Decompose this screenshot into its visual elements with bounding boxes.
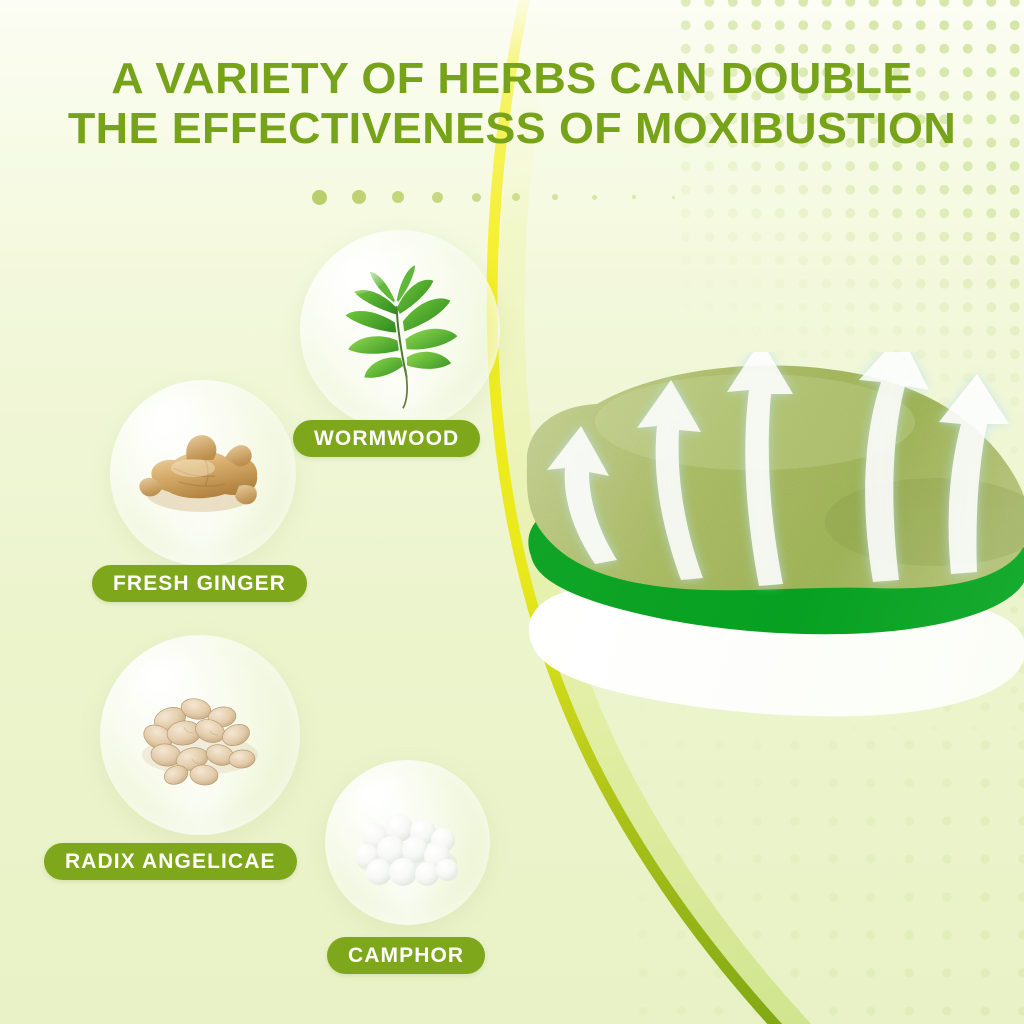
page-title-line-1: A VARIETY OF HERBS CAN DOUBLE <box>0 54 1024 104</box>
dried-root-slices-icon <box>100 635 300 835</box>
decorative-dot <box>632 195 636 199</box>
ingredient-label-text: WORMWOOD <box>314 427 459 451</box>
ingredient-label-radix-angelicae: RADIX ANGELICAE <box>44 843 297 880</box>
decorative-dot <box>512 193 520 201</box>
decorative-dot <box>312 190 327 205</box>
camphor-balls-icon <box>325 760 490 925</box>
ingredient-label-wormwood: WORMWOOD <box>293 420 480 457</box>
decorative-dot <box>432 192 443 203</box>
decorative-dot <box>472 193 481 202</box>
ginger-root-icon <box>110 380 296 566</box>
decorative-dot <box>552 194 558 200</box>
ingredient-label-fresh-ginger: FRESH GINGER <box>92 565 307 602</box>
ingredient-label-text: FRESH GINGER <box>113 572 286 596</box>
decorative-dot-row <box>312 186 692 208</box>
decorative-dot <box>592 195 597 200</box>
ingredient-bubble-fresh-ginger[interactable] <box>110 380 296 566</box>
ingredient-bubble-camphor[interactable] <box>325 760 490 925</box>
decorative-dot <box>392 191 404 203</box>
infographic-canvas: A VARIETY OF HERBS CAN DOUBLE THE EFFECT… <box>0 0 1024 1024</box>
ingredient-label-camphor: CAMPHOR <box>327 937 485 974</box>
ingredient-label-text: RADIX ANGELICAE <box>65 850 276 874</box>
page-title-line-2: THE EFFECTIVENESS OF MOXIBUSTION <box>0 104 1024 154</box>
ingredient-label-text: CAMPHOR <box>348 944 464 968</box>
page-title: A VARIETY OF HERBS CAN DOUBLE THE EFFECT… <box>0 54 1024 153</box>
wormwood-sprig-icon <box>300 230 500 430</box>
ingredient-bubble-radix-angelicae[interactable] <box>100 635 300 835</box>
moxibustion-herbal-patch <box>505 352 1024 802</box>
decorative-dot <box>352 190 366 204</box>
decorative-dot <box>672 196 675 199</box>
ingredient-bubble-wormwood[interactable] <box>300 230 500 430</box>
